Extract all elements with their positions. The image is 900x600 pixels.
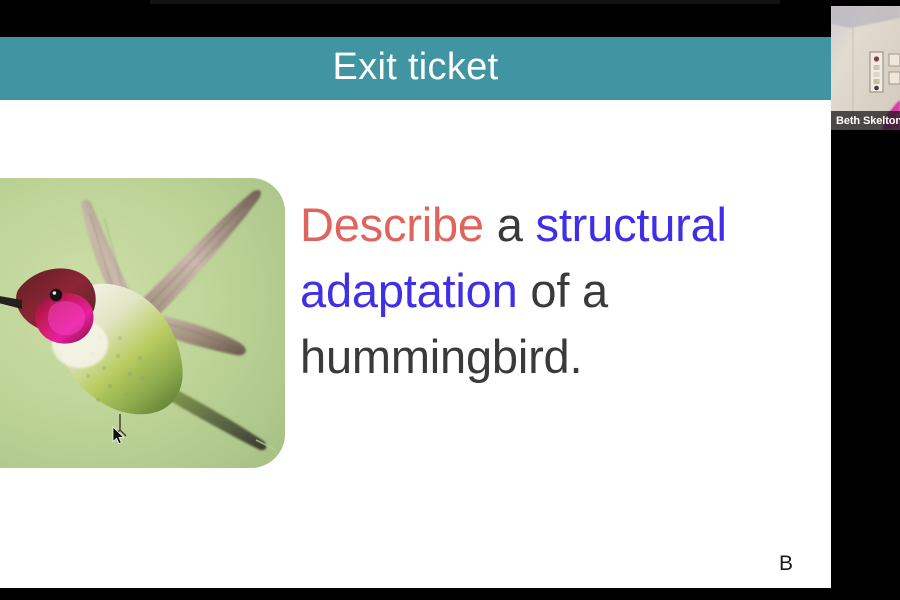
screen-share-window: Exit ticket (0, 0, 900, 600)
slide-title: Exit ticket (333, 48, 499, 89)
slide-body-text: Describe a structural adaptation of a hu… (300, 192, 800, 389)
presentation-slide[interactable]: Exit ticket (0, 37, 831, 588)
letterbox-top-sliver (150, 0, 780, 4)
webcam-name-bar: Beth Skelton (831, 111, 900, 130)
slide-title-bar: Exit ticket (0, 37, 831, 100)
text-segment-a: a (484, 198, 536, 251)
participant-name-label: Beth Skelton (831, 115, 900, 127)
webcam-thumbnail[interactable]: Beth Skelton (831, 6, 900, 130)
slide-corner-letter: B (779, 552, 793, 576)
hummingbird-photo (0, 178, 285, 468)
text-segment-describe: Describe (300, 198, 484, 251)
